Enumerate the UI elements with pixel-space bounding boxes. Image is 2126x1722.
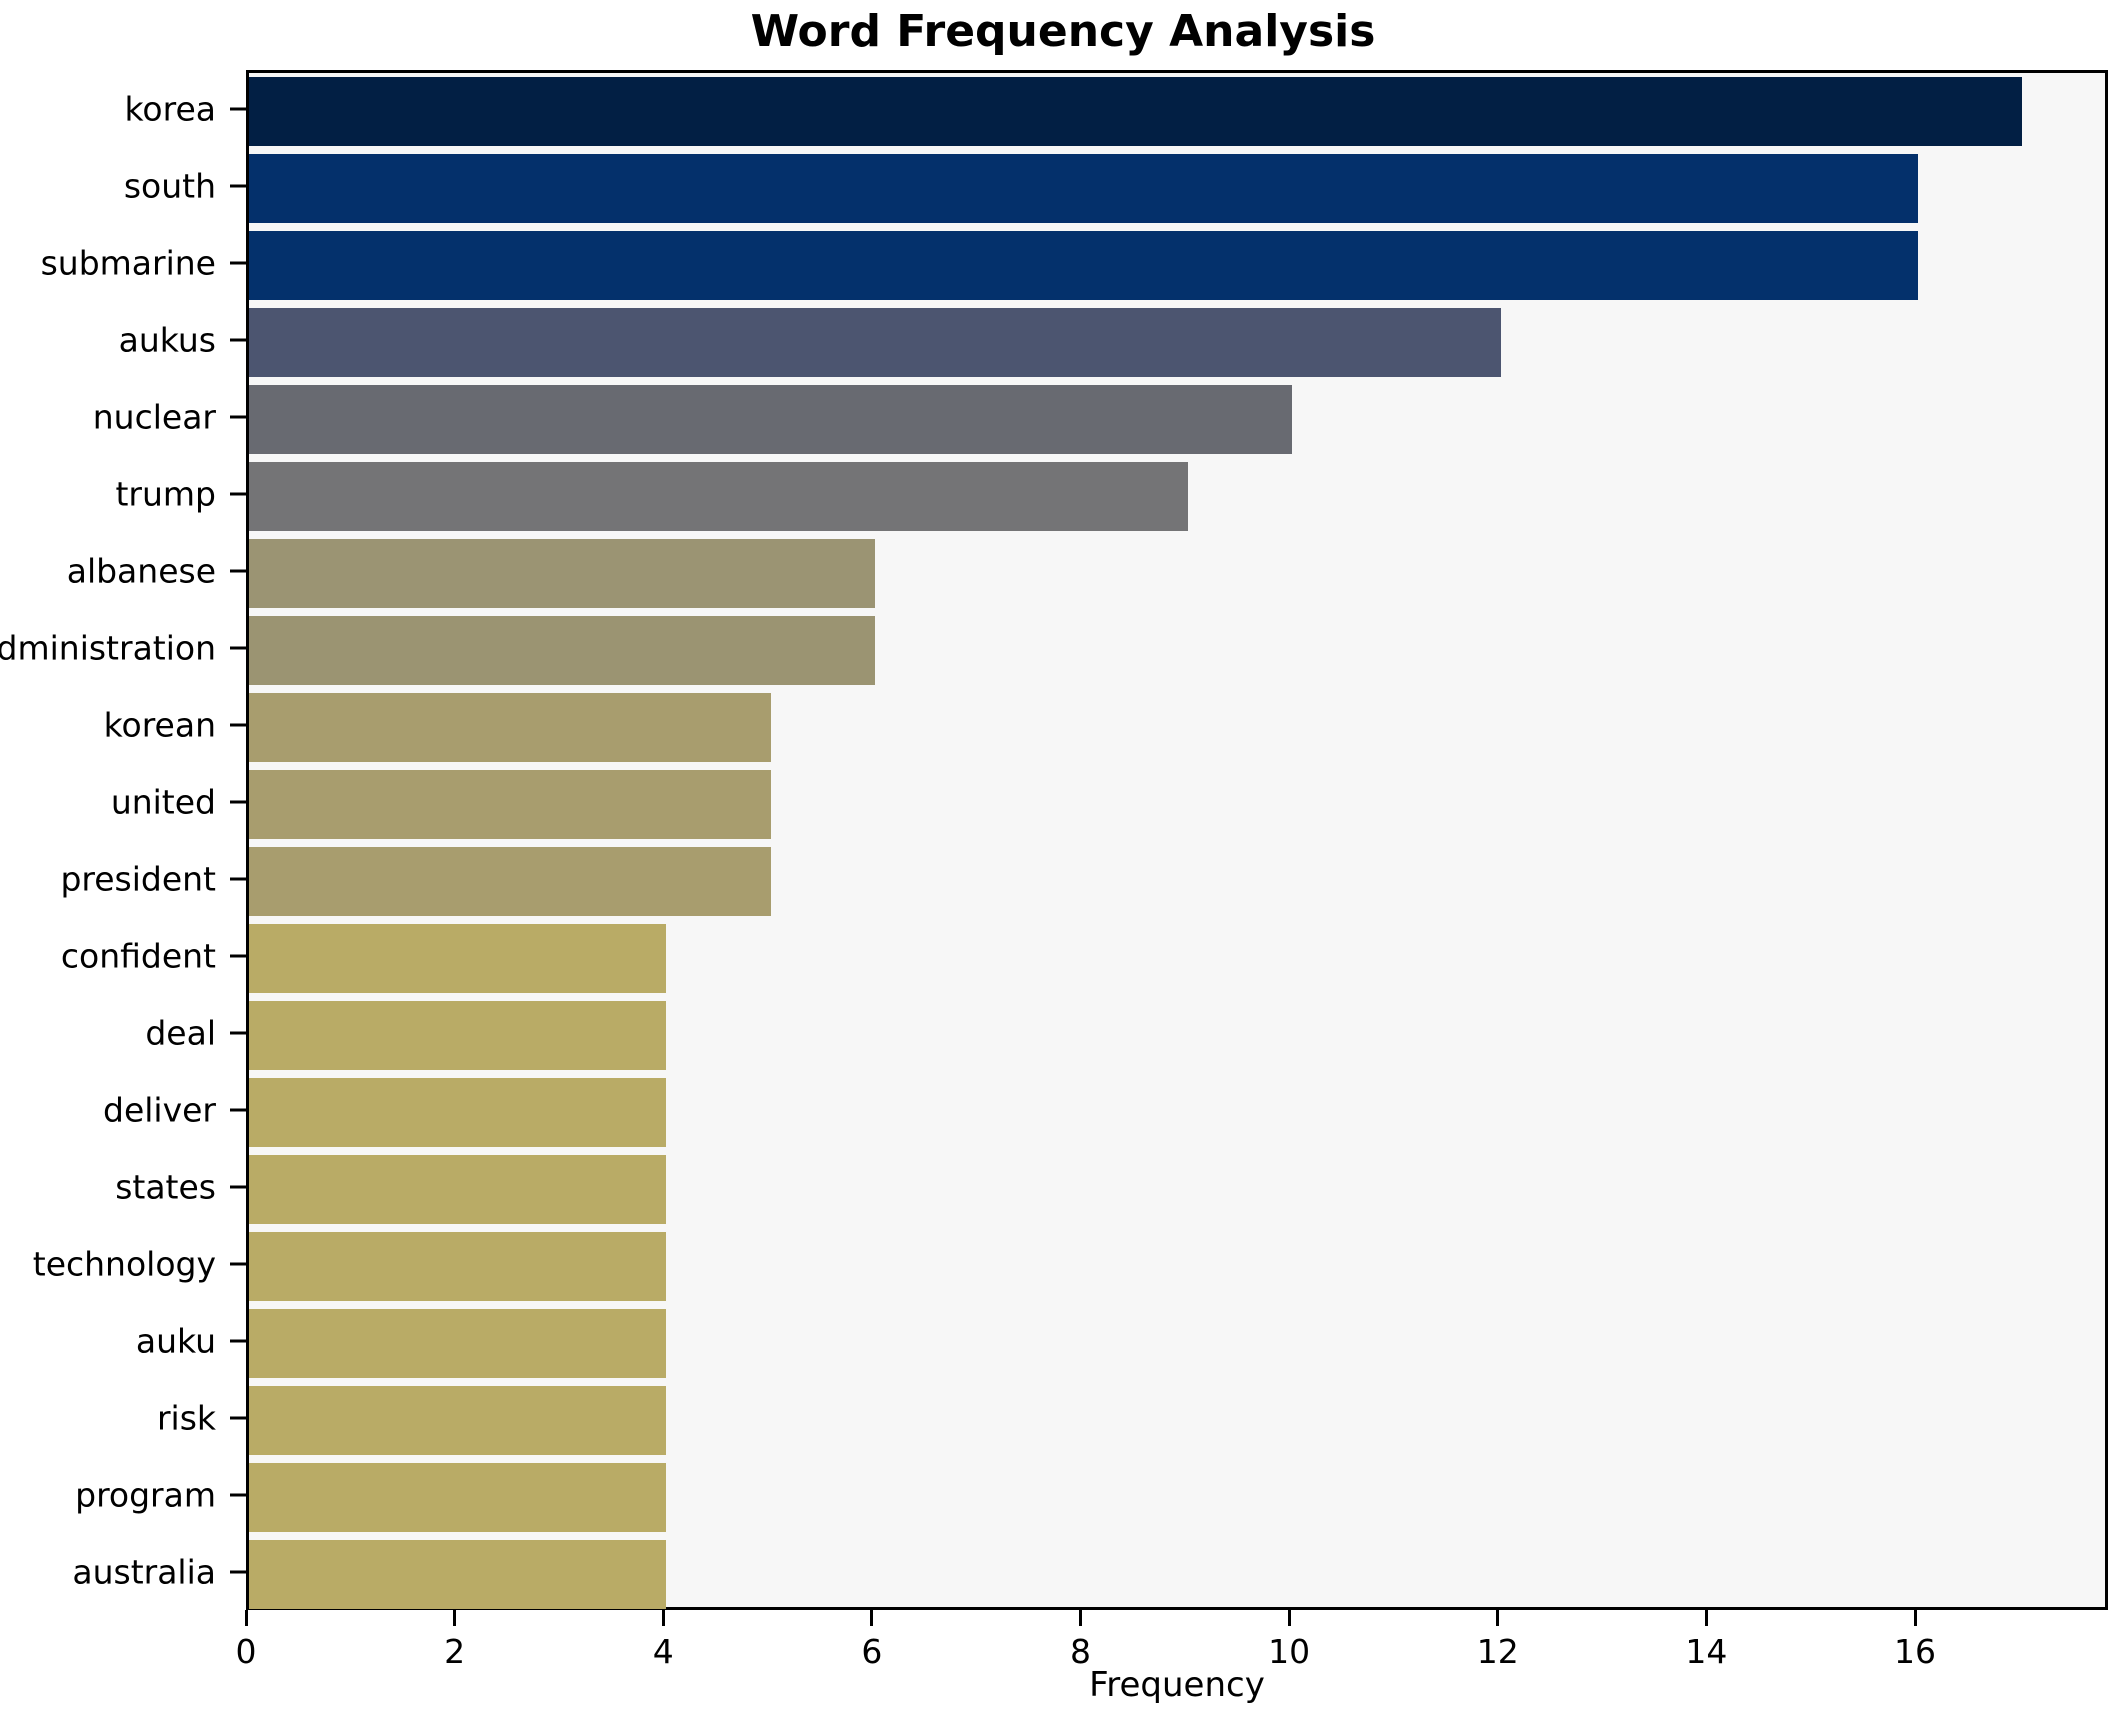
y-tick-label: trump xyxy=(115,474,216,513)
y-tick-label: president xyxy=(60,859,216,898)
y-tick-mark xyxy=(230,107,246,110)
y-tick-label: united xyxy=(111,782,216,821)
y-tick-label: submarine xyxy=(41,243,216,282)
bar xyxy=(249,77,2022,147)
chart-figure: Word Frequency Analysis koreasouthsubmar… xyxy=(0,0,2126,1722)
bar xyxy=(249,1078,666,1148)
x-tick-mark xyxy=(1496,1610,1499,1626)
bar xyxy=(249,616,875,686)
y-tick-mark xyxy=(230,800,246,803)
y-tick-label: deal xyxy=(145,1013,216,1052)
y-tick-mark xyxy=(230,1339,246,1342)
y-tick-label: technology xyxy=(33,1244,216,1283)
y-tick-mark xyxy=(230,723,246,726)
y-tick-label: korean xyxy=(104,705,216,744)
x-tick-mark xyxy=(1288,1610,1291,1626)
y-tick-label: albanese xyxy=(67,551,216,590)
y-axis: koreasouthsubmarineaukusnucleartrumpalba… xyxy=(0,70,246,1610)
y-tick-label: aukus xyxy=(119,320,216,359)
bar xyxy=(249,693,771,763)
y-tick-label: australia xyxy=(72,1552,216,1591)
y-tick-label: deliver xyxy=(103,1090,216,1129)
y-tick-mark xyxy=(230,261,246,264)
bar xyxy=(249,1232,666,1302)
y-tick-label: risk xyxy=(157,1398,216,1437)
bar xyxy=(249,1386,666,1456)
y-tick-label: nuclear xyxy=(93,397,216,436)
bars-layer xyxy=(249,73,2105,1607)
bar xyxy=(249,1540,666,1610)
y-tick-label: confident xyxy=(61,936,216,975)
y-tick-mark xyxy=(230,1416,246,1419)
y-tick-mark xyxy=(230,1031,246,1034)
y-tick-label: south xyxy=(124,166,216,205)
y-tick-mark xyxy=(230,1262,246,1265)
x-tick-mark xyxy=(662,1610,665,1626)
bar xyxy=(249,770,771,840)
page-title: Word Frequency Analysis xyxy=(0,6,2126,57)
y-tick-mark xyxy=(230,492,246,495)
y-tick-mark xyxy=(230,877,246,880)
bar xyxy=(249,1309,666,1379)
y-tick-mark xyxy=(230,646,246,649)
bar xyxy=(249,1463,666,1533)
y-tick-mark xyxy=(230,569,246,572)
bar xyxy=(249,231,1918,301)
y-tick-mark xyxy=(230,1185,246,1188)
y-tick-label: program xyxy=(75,1475,216,1514)
bar xyxy=(249,462,1188,532)
bar xyxy=(249,924,666,994)
x-tick-mark xyxy=(1705,1610,1708,1626)
bar xyxy=(249,1155,666,1225)
bar xyxy=(249,1001,666,1071)
y-tick-label: korea xyxy=(125,89,217,128)
y-tick-label: auku xyxy=(136,1321,216,1360)
y-tick-mark xyxy=(230,954,246,957)
x-tick-mark xyxy=(453,1610,456,1626)
bar xyxy=(249,308,1501,378)
y-tick-mark xyxy=(230,184,246,187)
x-tick-mark xyxy=(1914,1610,1917,1626)
x-axis-title: Frequency xyxy=(246,1665,2108,1705)
x-tick-mark xyxy=(1079,1610,1082,1626)
x-tick-mark xyxy=(245,1610,248,1626)
bar xyxy=(249,385,1292,455)
bar xyxy=(249,539,875,609)
y-tick-label: states xyxy=(115,1167,216,1206)
y-tick-mark xyxy=(230,1493,246,1496)
y-tick-mark xyxy=(230,1570,246,1573)
y-tick-label: administration xyxy=(0,628,216,667)
y-tick-mark xyxy=(230,338,246,341)
bar xyxy=(249,847,771,917)
plot-area xyxy=(246,70,2108,1610)
bar xyxy=(249,154,1918,224)
y-tick-mark xyxy=(230,415,246,418)
x-tick-mark xyxy=(870,1610,873,1626)
y-tick-mark xyxy=(230,1108,246,1111)
